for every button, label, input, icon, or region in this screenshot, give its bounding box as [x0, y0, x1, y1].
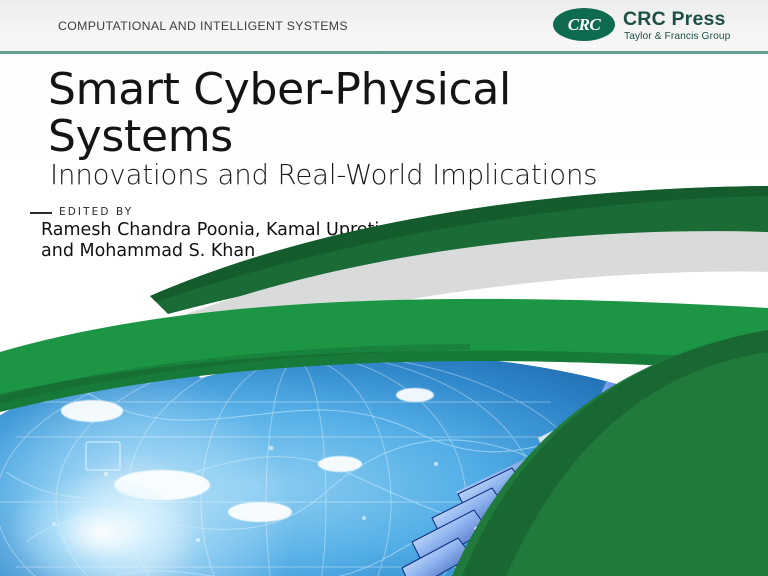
decorative-bands: [0, 0, 768, 576]
book-cover: COMPUTATIONAL AND INTELLIGENT SYSTEMS CR…: [0, 0, 768, 576]
